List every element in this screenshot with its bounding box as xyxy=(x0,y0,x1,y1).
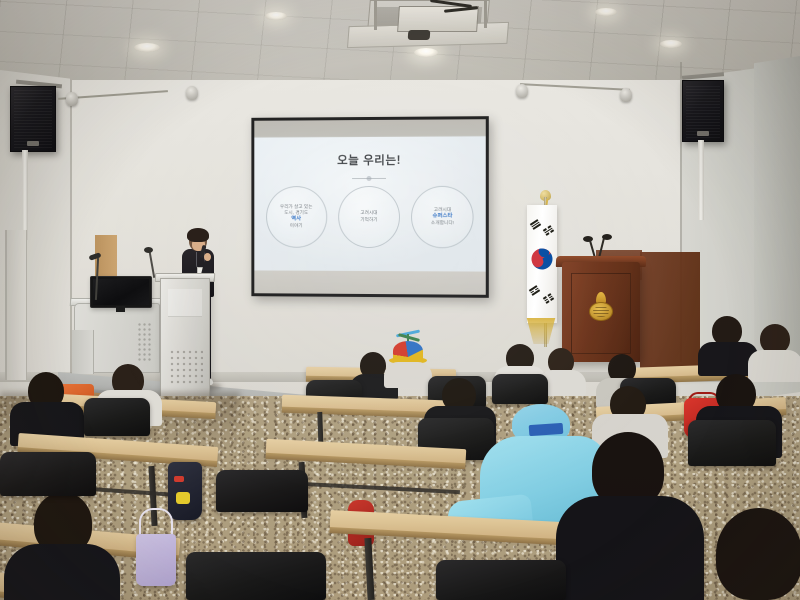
slide-circle-3: 고려시대 슈퍼스타 소개합니다! xyxy=(411,185,474,248)
chair-foreground[interactable] xyxy=(186,552,326,600)
chair[interactable] xyxy=(0,452,96,496)
circle3-last: 소개합니다! xyxy=(431,220,454,226)
circle2-line2: 기억하기 xyxy=(360,217,377,223)
presenter-podium xyxy=(160,278,210,400)
trigram-ri xyxy=(543,225,554,236)
chair[interactable] xyxy=(688,420,776,466)
presentation-slide: 오늘 우리는! 우리가 살고 있는 도시, 경기도 역사 이야기 고려시대 기억… xyxy=(254,137,485,272)
right-wall-return xyxy=(754,56,800,363)
av-table-vents xyxy=(137,322,153,362)
trigram-geon xyxy=(530,219,541,230)
confidence-monitor xyxy=(90,276,152,308)
speaker-pole-left xyxy=(22,150,28,240)
audience-shoulders-foreground xyxy=(4,544,120,600)
dark-backpack xyxy=(168,462,202,520)
slide-circle-1: 우리가 살고 있는 도시, 경기도 역사 이야기 xyxy=(266,186,327,248)
slide-circle-group: 우리가 살고 있는 도시, 경기도 역사 이야기 고려시대 기억하기 고려시대 … xyxy=(254,185,485,263)
ceiling-downlight xyxy=(265,12,287,20)
audience-head-foreground xyxy=(716,508,800,600)
projector-arm xyxy=(374,0,377,30)
wood-wall-right xyxy=(640,252,700,372)
presenter-hair xyxy=(187,228,209,242)
ceiling-downlight xyxy=(134,43,160,52)
speaker-grille xyxy=(686,84,720,138)
audience-shoulders xyxy=(384,362,432,388)
wall-speaker-left xyxy=(10,86,56,152)
lectern-mic-head xyxy=(583,236,593,242)
track-light xyxy=(620,88,632,102)
circle1-tail: 이야기 xyxy=(290,223,303,229)
projector-arm xyxy=(484,0,487,28)
slide-title: 오늘 우리는! xyxy=(254,152,485,169)
track-light xyxy=(66,92,78,106)
audience-shoulders xyxy=(748,350,800,382)
monitor-screen xyxy=(93,279,149,305)
taeguk-symbol xyxy=(527,245,556,274)
door-frame[interactable] xyxy=(5,230,27,380)
wall-speaker-right xyxy=(682,80,724,142)
slide-circle-2: 고려시대 기억하기 xyxy=(338,186,400,248)
chair[interactable] xyxy=(84,398,150,436)
chair-foreground[interactable] xyxy=(436,560,566,600)
backpack-patch xyxy=(174,476,184,482)
ceiling-downlight xyxy=(595,8,617,16)
podium-panel xyxy=(168,289,202,317)
slide-divider xyxy=(352,178,386,179)
audience-shoulders-foreground xyxy=(556,496,704,600)
lecture-hall-photo: 오늘 우리는! 우리가 살고 있는 도시, 경기도 역사 이야기 고려시대 기억… xyxy=(0,0,800,600)
south-korean-flag xyxy=(527,205,557,323)
backpack-patch xyxy=(176,492,190,504)
trigram-gam xyxy=(529,285,540,296)
chair[interactable] xyxy=(216,470,308,512)
chair[interactable] xyxy=(492,374,548,404)
emblem-lines xyxy=(593,306,609,317)
ceiling-downlight xyxy=(660,40,682,48)
projection-screen: 오늘 우리는! 우리가 살고 있는 도시, 경기도 역사 이야기 고려시대 기억… xyxy=(251,116,488,298)
presenter-hand xyxy=(204,253,211,261)
wooden-lectern xyxy=(562,262,640,362)
projector-lens xyxy=(408,30,431,40)
screen-surface: 오늘 우리는! 우리가 살고 있는 도시, 경기도 역사 이야기 고려시대 기억… xyxy=(254,119,485,295)
ceiling-downlight xyxy=(414,48,438,57)
monitor-stand xyxy=(116,306,125,312)
av-cabinet xyxy=(72,330,94,374)
podium-vent-dots xyxy=(169,349,203,385)
track-light xyxy=(516,84,528,98)
emblem-disc xyxy=(589,302,613,321)
speaker-grille xyxy=(14,90,52,148)
track-light xyxy=(186,86,198,100)
speaker-logo xyxy=(27,141,39,146)
trigram-gon xyxy=(543,293,554,304)
lectern-emblem xyxy=(588,292,614,322)
blue-cap-band xyxy=(529,423,564,436)
speaker-pole-right xyxy=(698,140,704,220)
speaker-logo xyxy=(697,131,709,136)
lilac-tote-bag xyxy=(136,534,176,586)
podium-mic-head xyxy=(144,247,153,253)
